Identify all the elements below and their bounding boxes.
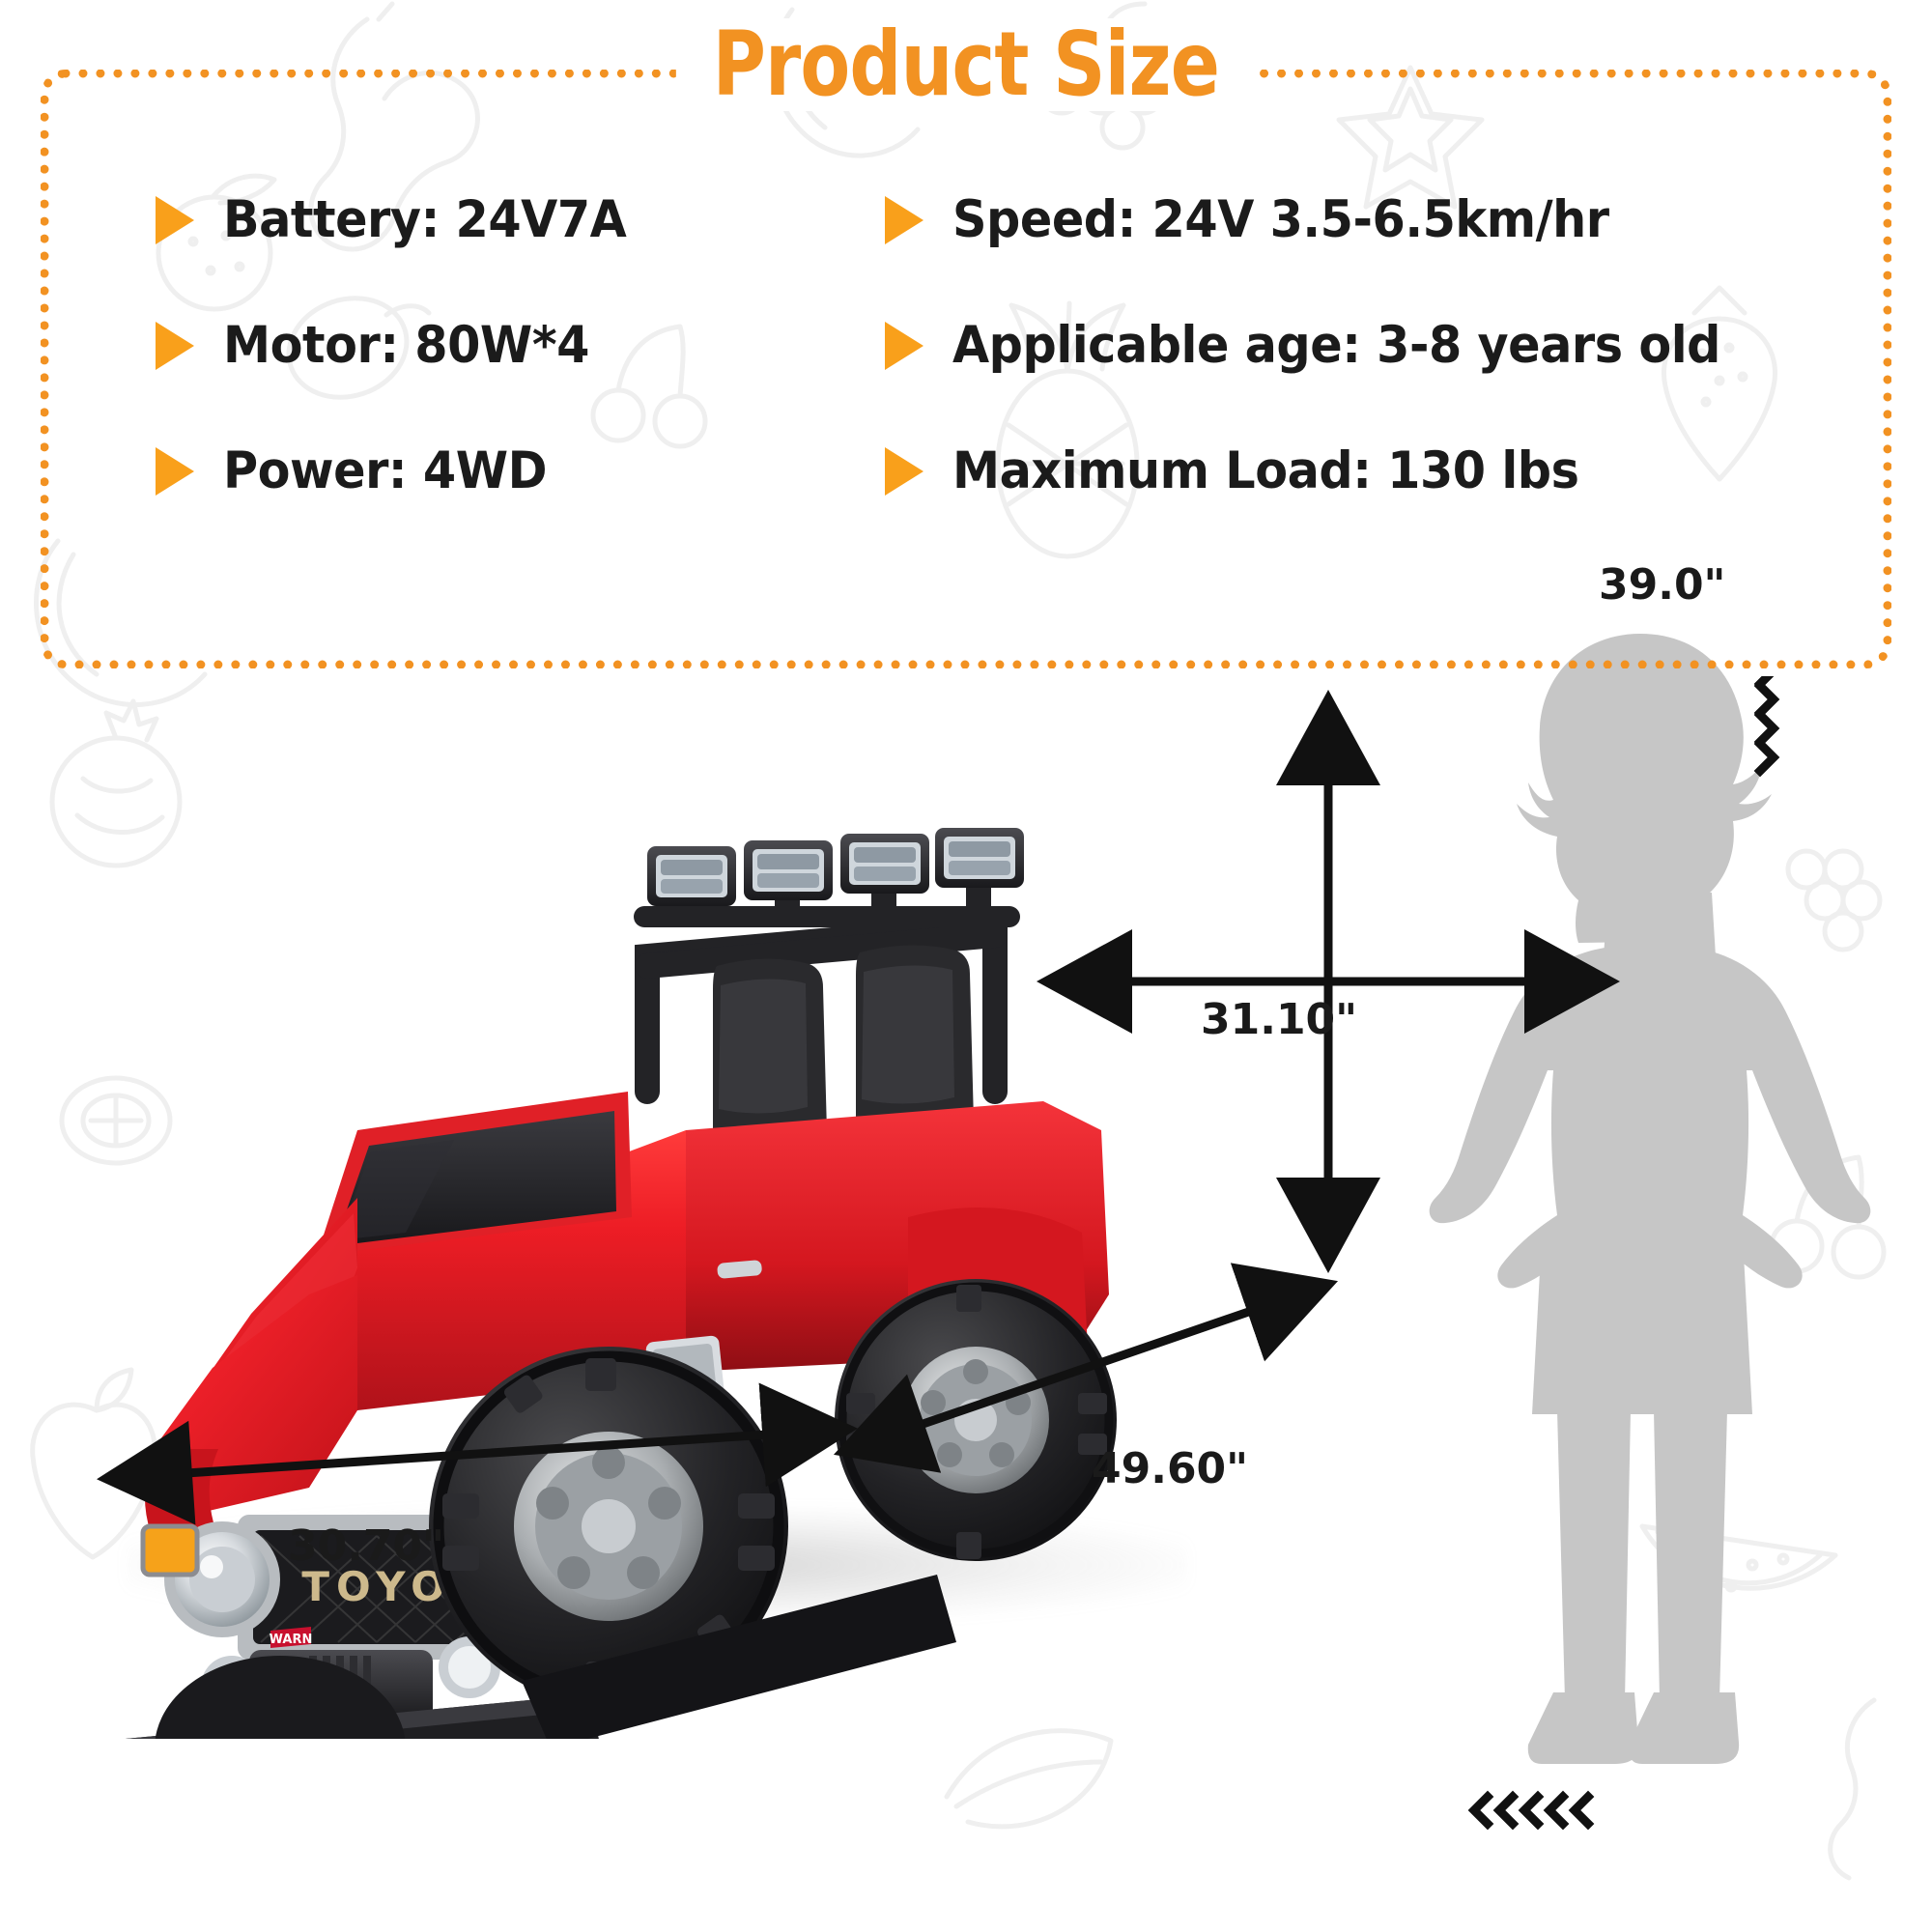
spec-item-applicable-age: Applicable age: 3-8 years old <box>885 318 1798 374</box>
spec-label-battery: Battery: 24V7A <box>223 192 626 248</box>
spec-item-maximum-load: Maximum Load: 130 lbs <box>885 443 1798 499</box>
winch-badge-text: WARN <box>270 1633 313 1647</box>
height-dimension-label: 31.10" <box>1201 995 1357 1044</box>
page-title: Product Size <box>676 18 1256 111</box>
child-silhouette <box>1391 599 1893 1845</box>
triangle-right-icon <box>156 196 194 244</box>
depth-dimension-label: 49.60" <box>1092 1444 1248 1493</box>
width-dimension-label: 30.70" <box>288 1521 444 1571</box>
triangle-right-icon <box>156 322 194 370</box>
spec-item-speed: Speed: 24V 3.5-6.5km/hr <box>885 192 1798 248</box>
triangle-right-icon <box>885 322 923 370</box>
spec-label-motor: Motor: 80W*4 <box>223 318 589 374</box>
triangle-right-icon <box>156 447 194 496</box>
spec-label-speed: Speed: 24V 3.5-6.5km/hr <box>952 192 1609 248</box>
spec-item-power: Power: 4WD <box>156 443 866 499</box>
led-light-bar <box>634 828 1024 927</box>
spec-list: Battery: 24V7A Speed: 24V 3.5-6.5km/hr M… <box>156 192 1798 499</box>
product-size-infographic: Product Size Battery: 24V7A Speed: 24V 3… <box>0 0 1932 1932</box>
spec-panel: Product Size Battery: 24V7A Speed: 24V 3… <box>41 70 1891 668</box>
ride-on-vehicle-image: TOYOTA <box>68 676 1256 1739</box>
spec-label-power: Power: 4WD <box>223 443 547 499</box>
triangle-right-icon <box>885 447 923 496</box>
spec-item-battery: Battery: 24V7A <box>156 192 866 248</box>
rear-wheel <box>835 1279 1117 1561</box>
product-stage: TOYOTA <box>0 676 1932 1932</box>
spec-item-motor: Motor: 80W*4 <box>156 318 866 374</box>
triangle-right-icon <box>885 196 923 244</box>
spec-label-maximum-load: Maximum Load: 130 lbs <box>952 443 1578 499</box>
turn-signal-left <box>143 1526 197 1575</box>
spec-label-applicable-age: Applicable age: 3-8 years old <box>952 318 1720 374</box>
